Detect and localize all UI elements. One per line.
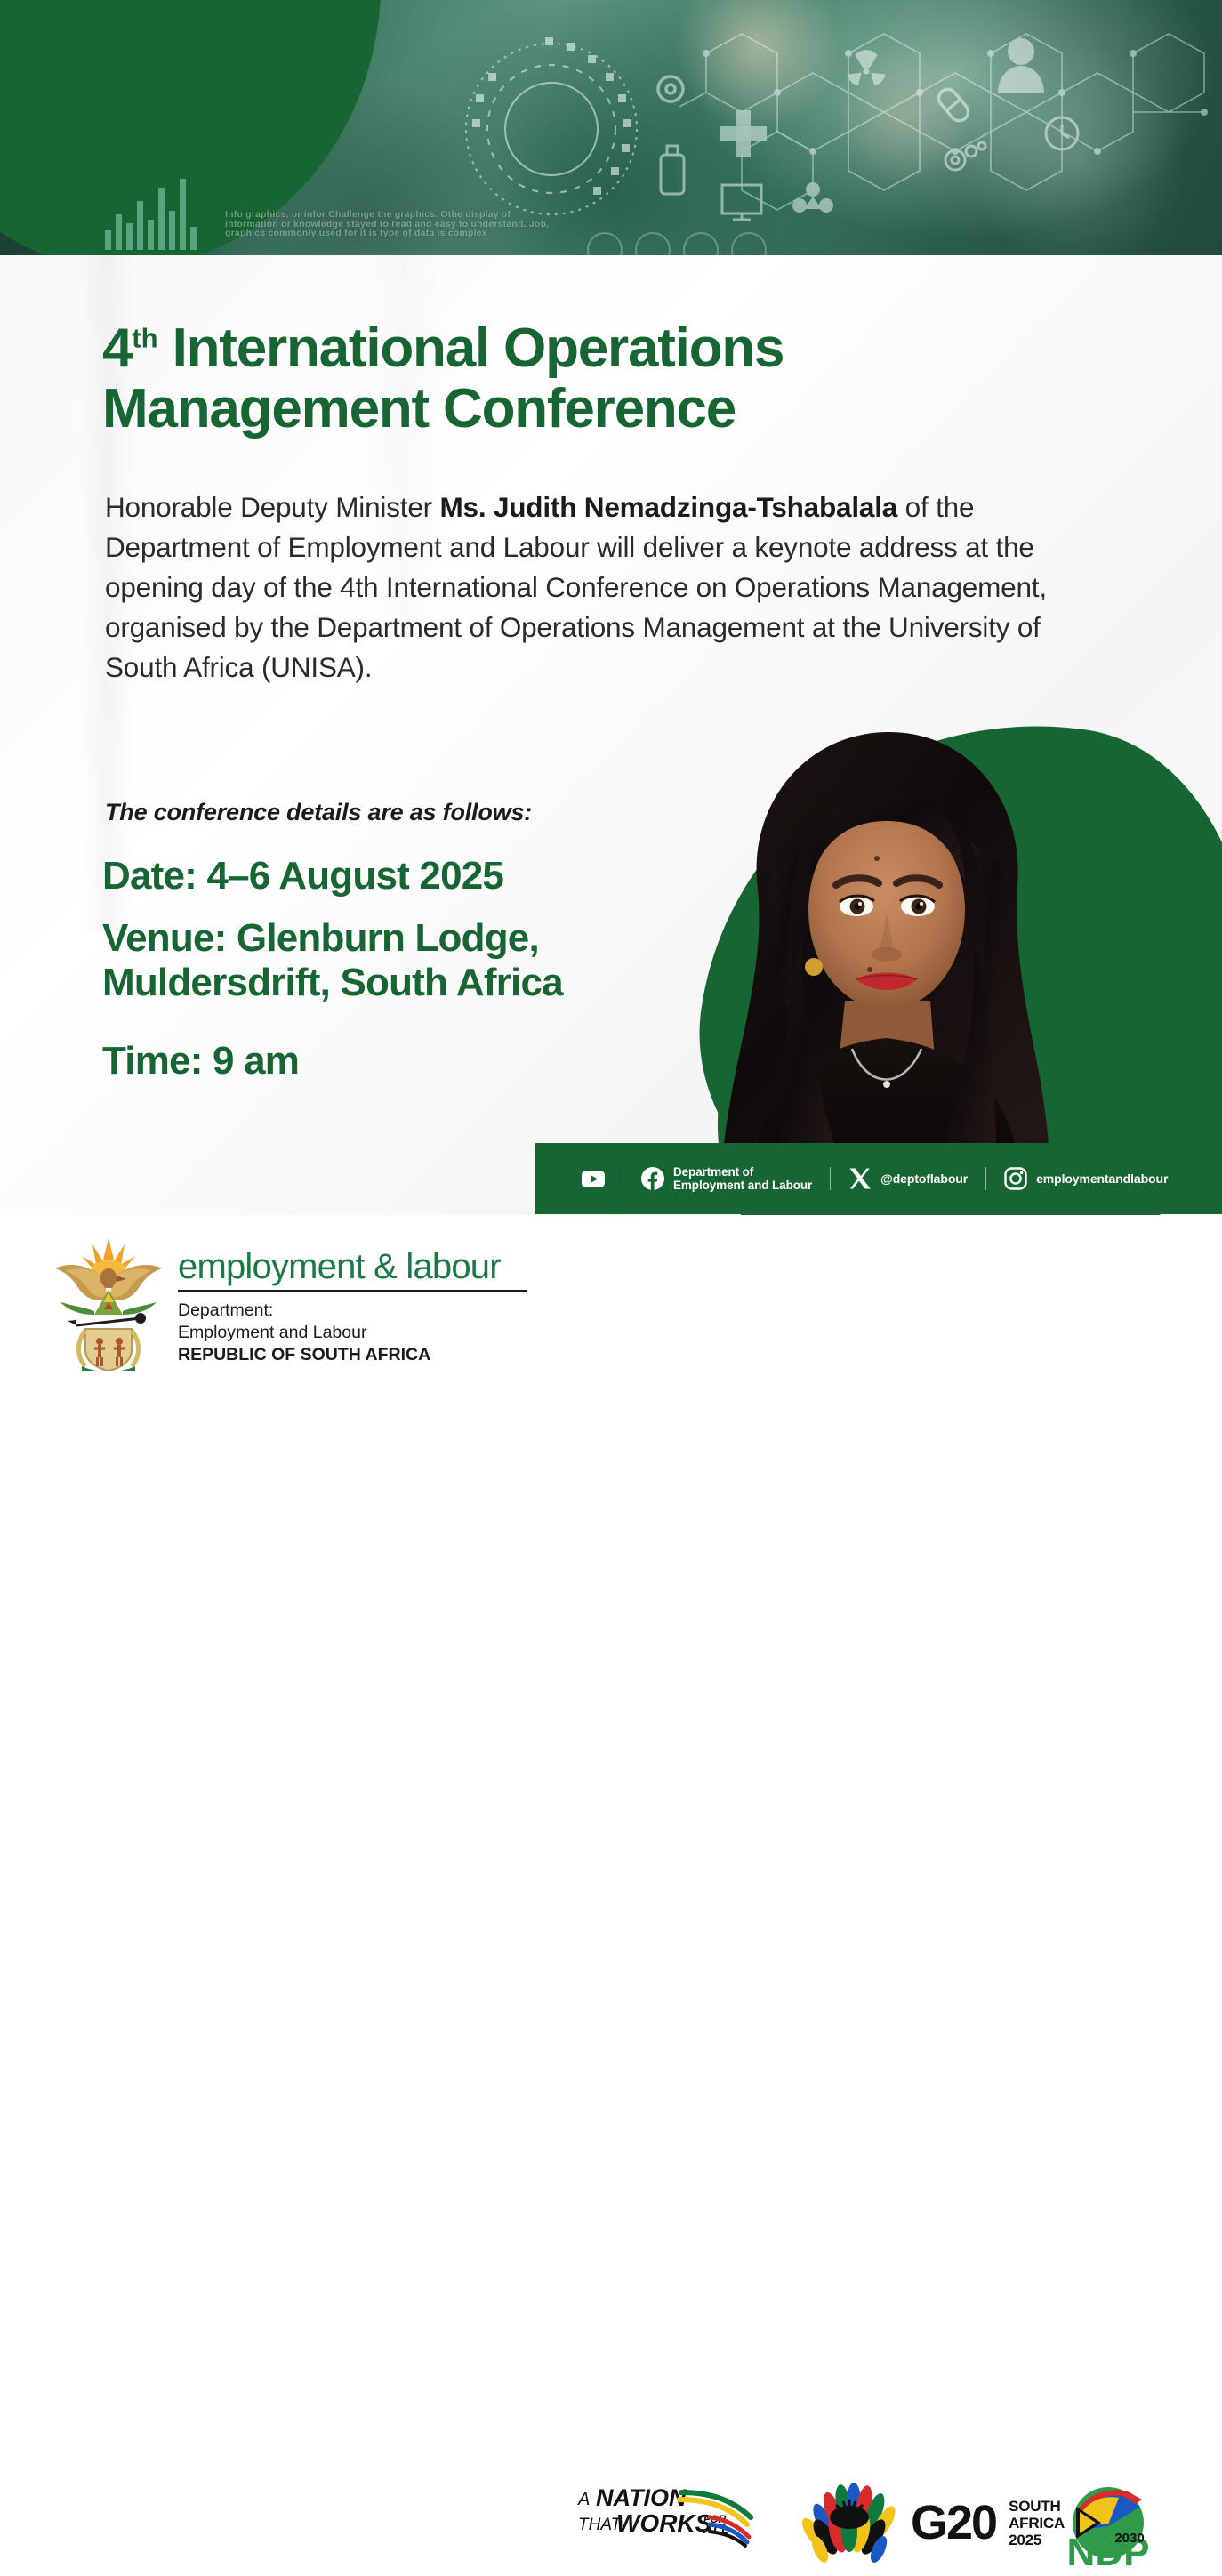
ndp-2030-logo: NDP 2030 [1064, 2480, 1153, 2576]
department-sub-line2: Employment and Labour [178, 1322, 534, 1344]
department-sub-line1: Department: [178, 1300, 534, 1322]
facebook-link[interactable]: Department of Employment and Labour [641, 1165, 812, 1192]
g20-wordmark: G20 [911, 2499, 996, 2547]
minister-portrait [711, 707, 1058, 1156]
footer-logo-bar: employment & labour Department: Employme… [0, 1215, 1222, 1423]
title-line-2: Management Conference [102, 379, 1107, 439]
detail-date: Date: 4–6 August 2025 [102, 854, 503, 898]
banner-circles-graphic [587, 232, 767, 255]
a-nation-that-works-for-all-logo: A NATION THAT WORKS FOR ALL [576, 2476, 772, 2548]
hexagon-network-icon [599, 0, 1222, 255]
detail-venue: Venue: Glenburn Lodge, Muldersdrift, Sou… [102, 916, 743, 1005]
wordmark-rule [178, 1290, 527, 1292]
youtube-link[interactable] [582, 1171, 605, 1187]
g20-logo: G20 SOUTH AFRICA 2025 [800, 2478, 1065, 2567]
divider-2 [830, 1167, 831, 1190]
title-ordinal-suffix: th [132, 322, 157, 353]
lede-paragraph: Honorable Deputy Minister Ms. Judith Nem… [105, 487, 1065, 688]
x-twitter-icon [848, 1167, 872, 1190]
g20-subtitle: SOUTH AFRICA 2025 [1009, 2498, 1065, 2548]
facebook-label: Department of Employment and Labour [673, 1165, 812, 1192]
x-link[interactable]: @deptoflabour [848, 1167, 968, 1190]
bar-chart-graphic [105, 179, 197, 250]
south-africa-coat-of-arms-icon [46, 1233, 171, 1371]
instagram-icon [1004, 1167, 1027, 1190]
divider [623, 1167, 623, 1190]
detail-time: Time: 9 am [102, 1039, 299, 1083]
instagram-handle: employmentandlabour [1036, 1172, 1168, 1186]
g20-line2: AFRICA [1009, 2515, 1065, 2532]
nation-a: A [577, 2490, 590, 2509]
g20-line3: 2025 [1009, 2532, 1065, 2548]
lede-part-1: Honorable Deputy Minister [105, 491, 439, 523]
department-subtitle: Department: Employment and Labour REPUBL… [178, 1300, 534, 1366]
page-title: 4th International OperationsManagement C… [102, 318, 1107, 439]
facebook-icon [641, 1167, 664, 1190]
youtube-icon [582, 1171, 605, 1187]
ndp-year: 2030 [1114, 2531, 1144, 2546]
header-banner: Info graphics, or infor Challenge the gr… [0, 0, 1222, 255]
nation-nation: NATION [596, 2484, 687, 2511]
x-handle: @deptoflabour [880, 1172, 968, 1186]
g20-protea-icon [800, 2478, 898, 2567]
minister-name: Ms. Judith Nemadzinga-Tshabalala [439, 491, 897, 523]
department-sub-line3: REPUBLIC OF SOUTH AFRICA [178, 1344, 534, 1366]
title-line-1: International Operations [158, 318, 784, 379]
instagram-link[interactable]: employmentandlabour [1004, 1167, 1168, 1190]
social-media-bar: Department of Employment and Labour @dep… [535, 1143, 1222, 1214]
nation-works: WORKS [616, 2509, 712, 2537]
banner-overlay-text: Info graphics, or infor Challenge the gr… [225, 210, 563, 238]
details-intro: The conference details are as follows: [105, 799, 532, 826]
department-wordmark: employment & labour Department: Employme… [178, 1247, 534, 1366]
facebook-label-line1: Department of [673, 1165, 812, 1179]
title-ordinal: 4 [102, 318, 132, 379]
divider-3 [985, 1167, 986, 1190]
facebook-label-line2: Employment and Labour [673, 1179, 812, 1192]
department-title: employment & labour [178, 1247, 534, 1286]
g20-line1: SOUTH [1009, 2498, 1065, 2515]
